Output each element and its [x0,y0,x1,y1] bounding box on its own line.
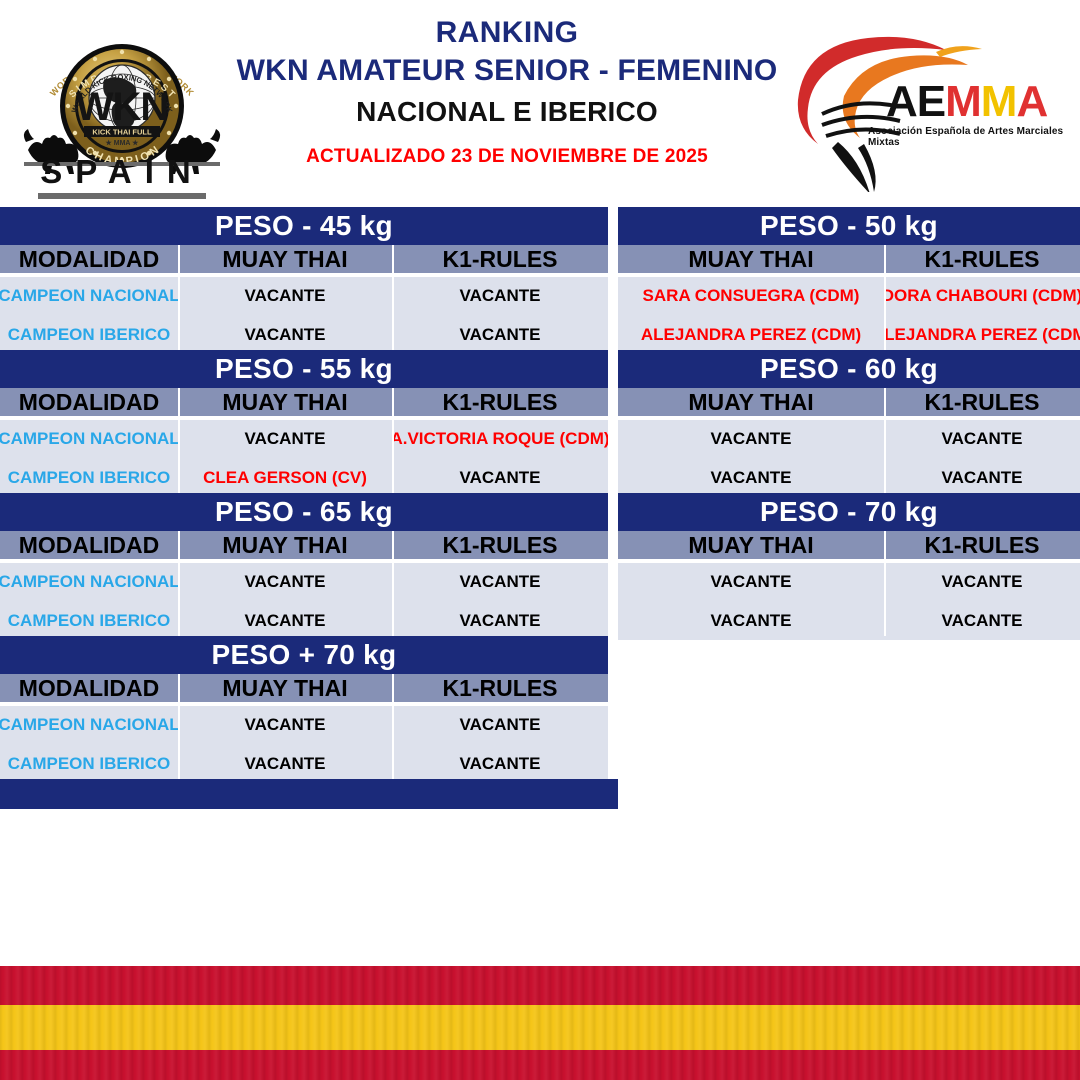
cell-k1-rules: A.VICTORIA ROQUE (CDM) [392,420,608,458]
column-header-k1-rules: K1-RULES [392,245,608,273]
column-header-modalidad: MODALIDAD [0,531,178,559]
column-divider [178,245,180,350]
page-subtitle: WKN AMATEUR SENIOR - FEMENINO [232,52,782,90]
column-divider [178,674,180,779]
aemma-ae: AE [886,77,945,126]
footer-strip [0,779,618,809]
table-row: CAMPEON IBERICOVACANTEVACANTE [0,315,608,354]
weight-block-left: PESO + 70 kgMODALIDADMUAY THAIK1-RULESCA… [0,636,608,783]
aemma-a: A [1016,77,1047,126]
cell-k1-rules: VACANTE [392,706,608,744]
column-header-row: MODALIDADMUAY THAIK1-RULES [0,531,608,559]
cell-muay-thai: VACANTE [178,315,392,354]
weight-category-header: PESO - 65 kg [0,493,608,531]
column-header-k1-rules: K1-RULES [392,674,608,702]
row-label-modalidad: CAMPEON NACIONAL [0,277,178,315]
column-header-modalidad: MODALIDAD [0,245,178,273]
weight-block-left: PESO - 45 kgMODALIDADMUAY THAIK1-RULESCA… [0,207,608,354]
table-row: CAMPEON NACIONALVACANTEVACANTE [0,277,608,315]
cell-k1-rules: VACANTE [392,744,608,783]
cell-k1-rules: DORA CHABOURI (CDM) [884,277,1080,315]
cell-muay-thai: VACANTE [618,563,884,601]
weight-category-header: PESO + 70 kg [0,636,608,674]
column-header-k1-rules: K1-RULES [392,388,608,416]
row-label-modalidad: CAMPEON IBERICO [0,744,178,783]
block-rows: CAMPEON NACIONALVACANTEVACANTECAMPEON IB… [0,277,608,354]
column-header-muay-thai: MUAY THAI [178,245,392,273]
column-header-row: MODALIDADMUAY THAIK1-RULES [0,245,608,273]
column-divider [178,531,180,636]
weight-block-left: PESO - 65 kgMODALIDADMUAY THAIK1-RULESCA… [0,493,608,640]
updated-date: ACTUALIZADO 23 DE NOVIEMBRE DE 2025 [232,140,782,174]
column-header-modalidad: MODALIDAD [0,674,178,702]
weight-block-right: PESO - 60 kgMUAY THAIK1-RULESVACANTEVACA… [618,350,1080,497]
weight-block-group: PESO - 55 kgMODALIDADMUAY THAIK1-RULESCA… [0,350,1080,493]
column-divider [884,245,886,350]
spain-flag-band [0,966,1080,1080]
weight-category-header: PESO - 45 kg [0,207,608,245]
weight-category-header: PESO - 55 kg [0,350,608,388]
row-label-modalidad: CAMPEON IBERICO [0,458,178,497]
flag-stripe-red-top [0,966,1080,1005]
column-divider [884,531,886,636]
cell-muay-thai: VACANTE [618,420,884,458]
cell-muay-thai: SARA CONSUEGRA (CDM) [618,277,884,315]
page-header: WORLD KICKBOXING NETWORK S I M P L Y T H… [0,0,1080,207]
cell-muay-thai: VACANTE [178,563,392,601]
column-header-row: MUAY THAIK1-RULES [618,531,1080,559]
table-row: VACANTEVACANTE [618,458,1080,497]
title-block: RANKING WKN AMATEUR SENIOR - FEMENINO NA… [232,14,782,174]
weight-category-header: PESO - 50 kg [618,207,1080,245]
cell-muay-thai: VACANTE [178,420,392,458]
row-label-modalidad: CAMPEON NACIONAL [0,706,178,744]
column-header-row: MODALIDADMUAY THAIK1-RULES [0,674,608,702]
column-divider [392,531,394,636]
column-header-modalidad: MODALIDAD [0,388,178,416]
row-label-modalidad: CAMPEON IBERICO [0,601,178,640]
column-divider [392,388,394,493]
table-row: CAMPEON IBERICOCLEA GERSON (CV)VACANTE [0,458,608,497]
weight-block-group: PESO - 45 kgMODALIDADMUAY THAIK1-RULESCA… [0,207,1080,350]
cell-muay-thai: VACANTE [618,601,884,640]
table-row: VACANTEVACANTE [618,563,1080,601]
column-header-k1-rules: K1-RULES [884,531,1080,559]
svg-text:KICK THAI FULL: KICK THAI FULL [92,128,152,137]
column-header-row: MUAY THAIK1-RULES [618,245,1080,273]
block-rows: CAMPEON NACIONALVACANTEVACANTECAMPEON IB… [0,706,608,783]
svg-text:★ MMA ★: ★ MMA ★ [106,139,140,147]
flag-stripe-yellow [0,1005,1080,1050]
weight-block-group: PESO + 70 kgMODALIDADMUAY THAIK1-RULESCA… [0,636,1080,779]
cell-k1-rules: ALEJANDRA PEREZ (CDM) [884,315,1080,354]
block-rows: SARA CONSUEGRA (CDM)DORA CHABOURI (CDM)A… [618,277,1080,354]
cell-k1-rules: VACANTE [884,458,1080,497]
cell-k1-rules: VACANTE [392,277,608,315]
table-row: SARA CONSUEGRA (CDM)DORA CHABOURI (CDM) [618,277,1080,315]
weight-category-header: PESO - 60 kg [618,350,1080,388]
cell-k1-rules: VACANTE [392,315,608,354]
cell-muay-thai: VACANTE [178,706,392,744]
cell-k1-rules: VACANTE [884,601,1080,640]
column-header-muay-thai: MUAY THAI [618,245,884,273]
svg-text:WKN: WKN [76,85,169,129]
cell-k1-rules: VACANTE [884,420,1080,458]
ranking-sheet: PESO - 45 kgMODALIDADMUAY THAIK1-RULESCA… [0,207,1080,809]
flag-stripe-red-bottom [0,1050,1080,1080]
weight-block-right: PESO - 70 kgMUAY THAIK1-RULESVACANTEVACA… [618,493,1080,640]
table-row: CAMPEON NACIONALVACANTEA.VICTORIA ROQUE … [0,420,608,458]
column-divider [884,388,886,493]
column-header-muay-thai: MUAY THAI [618,388,884,416]
column-divider [392,245,394,350]
wkn-underline [38,193,206,199]
table-row: CAMPEON NACIONALVACANTEVACANTE [0,563,608,601]
column-header-row: MODALIDADMUAY THAIK1-RULES [0,388,608,416]
page-scope: NACIONAL E IBERICO [232,90,782,134]
cell-muay-thai: VACANTE [618,458,884,497]
weight-block-left: PESO - 55 kgMODALIDADMUAY THAIK1-RULESCA… [0,350,608,497]
cell-muay-thai: ALEJANDRA PEREZ (CDM) [618,315,884,354]
cell-k1-rules: VACANTE [392,563,608,601]
block-rows: CAMPEON NACIONALVACANTEA.VICTORIA ROQUE … [0,420,608,497]
weight-category-header: PESO - 70 kg [618,493,1080,531]
page-title: RANKING [232,14,782,52]
row-label-modalidad: CAMPEON NACIONAL [0,563,178,601]
cell-muay-thai: VACANTE [178,601,392,640]
cell-muay-thai: CLEA GERSON (CV) [178,458,392,497]
cell-muay-thai: VACANTE [178,277,392,315]
column-divider [392,674,394,779]
column-divider [178,388,180,493]
weight-block-group: PESO - 65 kgMODALIDADMUAY THAIK1-RULESCA… [0,493,1080,636]
cell-muay-thai: VACANTE [178,744,392,783]
table-row: CAMPEON IBERICOVACANTEVACANTE [0,744,608,783]
cell-k1-rules: VACANTE [392,458,608,497]
block-rows: VACANTEVACANTEVACANTEVACANTE [618,420,1080,497]
aemma-wordmark: AEMMA [886,77,1047,127]
table-row: CAMPEON NACIONALVACANTEVACANTE [0,706,608,744]
wkn-spain-logo: WORLD KICKBOXING NETWORK S I M P L Y T H… [18,2,226,207]
column-header-row: MUAY THAIK1-RULES [618,388,1080,416]
column-header-k1-rules: K1-RULES [392,531,608,559]
aemma-m2: M [981,77,1017,126]
column-header-k1-rules: K1-RULES [884,388,1080,416]
aemma-logo: AEMMA Asociación Española de Artes Marci… [786,22,1076,192]
table-row: VACANTEVACANTE [618,420,1080,458]
block-rows: CAMPEON NACIONALVACANTEVACANTECAMPEON IB… [0,563,608,640]
column-header-muay-thai: MUAY THAI [618,531,884,559]
table-row: CAMPEON IBERICOVACANTEVACANTE [0,601,608,640]
table-row: ALEJANDRA PEREZ (CDM)ALEJANDRA PEREZ (CD… [618,315,1080,354]
wkn-country-label: SPAIN [32,153,212,191]
column-header-k1-rules: K1-RULES [884,245,1080,273]
column-header-muay-thai: MUAY THAI [178,388,392,416]
block-rows: VACANTEVACANTEVACANTEVACANTE [618,563,1080,640]
table-row: VACANTEVACANTE [618,601,1080,640]
aemma-m1: M [945,77,981,126]
row-label-modalidad: CAMPEON IBERICO [0,315,178,354]
column-header-muay-thai: MUAY THAI [178,674,392,702]
weight-block-right: PESO - 50 kgMUAY THAIK1-RULESSARA CONSUE… [618,207,1080,354]
cell-k1-rules: VACANTE [392,601,608,640]
row-label-modalidad: CAMPEON NACIONAL [0,420,178,458]
aemma-subtitle: Asociación Española de Artes Marciales M… [868,126,1076,148]
cell-k1-rules: VACANTE [884,563,1080,601]
column-header-muay-thai: MUAY THAI [178,531,392,559]
